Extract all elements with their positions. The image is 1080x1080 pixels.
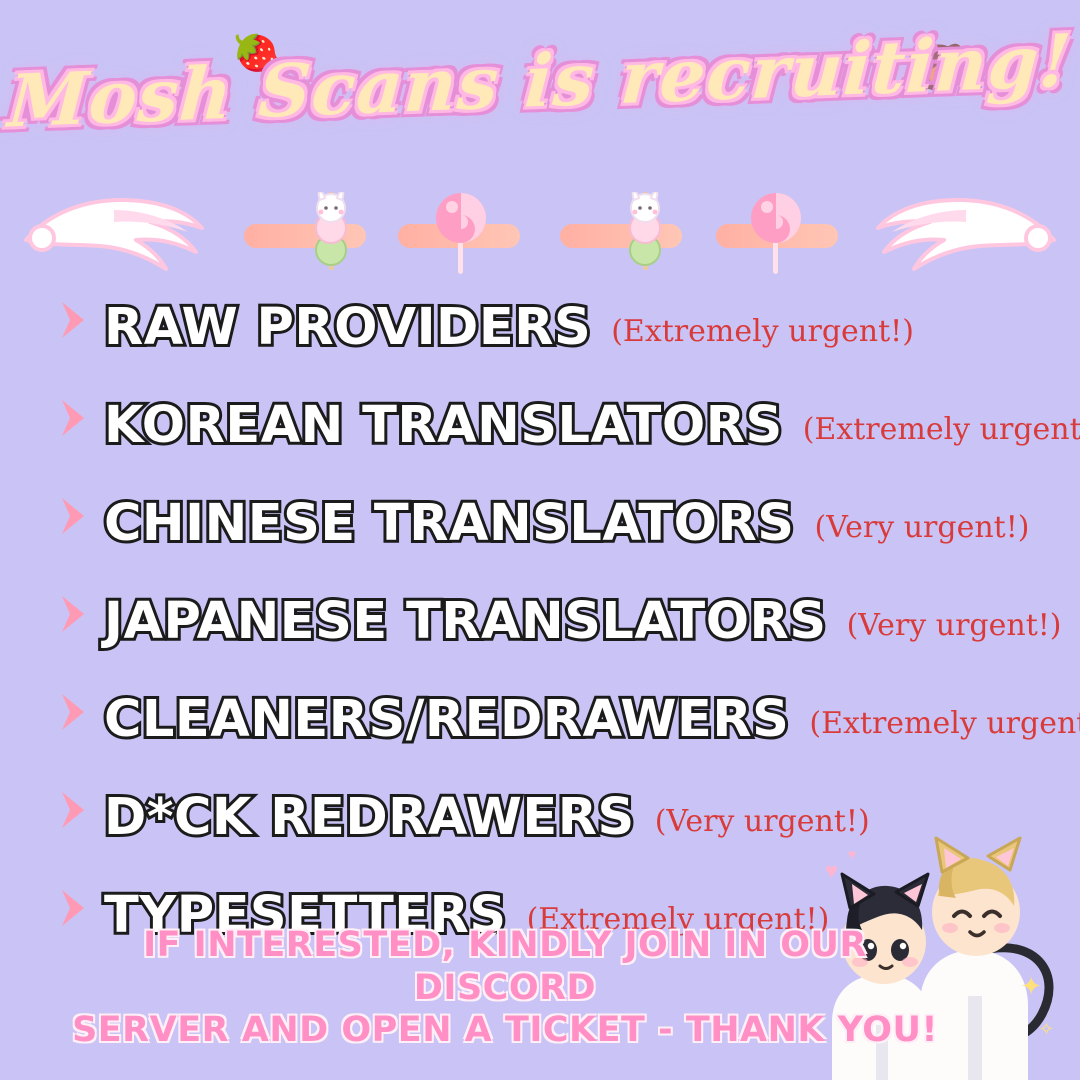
chevron-right-icon [58,888,88,928]
list-item: KOREAN TRANSLATORS (Extremely urgent!) [0,396,1080,494]
wing-icon [872,170,1062,275]
title-area: 🍓 🐻 Mosh Scans is recruiting! [0,38,1080,123]
list-item: CLEANERS/REDRAWERS (Extremely urgent!) [0,690,1080,788]
list-item: RAW PROVIDERS (Extremely urgent!) [0,298,1080,396]
recruitment-poster: 🍓 🐻 Mosh Scans is recruiting! [0,0,1080,1080]
wing-icon [18,170,208,275]
role-label: CLEANERS/REDRAWERS [104,690,789,749]
dango-skewer-icon [614,192,678,272]
footer-callout: IF INTERESTED, KINDLY JOIN IN OUR DISCOR… [0,924,1080,1052]
role-urgency: (Very urgent!) [847,608,1062,643]
chevron-right-icon [58,300,88,340]
role-label: D*CK REDRAWERS [104,788,635,847]
role-list: RAW PROVIDERS (Extremely urgent!) KOREAN… [0,298,1080,984]
dango-skewer-icon [300,192,364,272]
chevron-right-icon [58,398,88,438]
role-label: RAW PROVIDERS [104,298,591,357]
chevron-right-icon [58,790,88,830]
role-urgency: (Extremely urgent!) [803,412,1080,447]
role-urgency: (Very urgent!) [815,510,1030,545]
role-urgency: (Extremely urgent!) [611,314,914,349]
role-urgency: (Extremely urgent!) [809,706,1080,741]
footer-line-2: SERVER AND OPEN A TICKET - THANK YOU! [60,1009,950,1052]
role-urgency: (Very urgent!) [655,804,870,839]
lollipop-icon [745,190,807,274]
chevron-right-icon [58,692,88,732]
role-label: CHINESE TRANSLATORS [104,494,795,553]
chevron-right-icon [58,594,88,634]
lollipop-icon [430,190,492,274]
role-label: KOREAN TRANSLATORS [104,396,783,455]
chevron-right-icon [58,496,88,536]
poster-title: Mosh Scans is recruiting! [5,17,1074,143]
list-item: D*CK REDRAWERS (Very urgent!) [0,788,1080,886]
decorative-divider [0,162,1080,282]
footer-line-1: IF INTERESTED, KINDLY JOIN IN OUR DISCOR… [60,924,950,1009]
role-label: JAPANESE TRANSLATORS [104,592,827,651]
list-item: JAPANESE TRANSLATORS (Very urgent!) [0,592,1080,690]
list-item: CHINESE TRANSLATORS (Very urgent!) [0,494,1080,592]
